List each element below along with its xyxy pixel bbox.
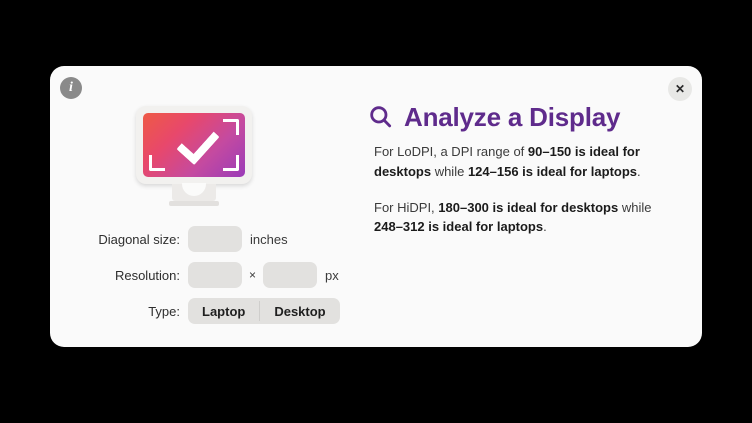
type-row: Type: Laptop Desktop xyxy=(50,298,350,324)
screen-background: i ✕ Diagonal s xyxy=(0,0,752,423)
page-title: Analyze a Display xyxy=(404,104,620,130)
diagonal-size-input[interactable] xyxy=(188,226,242,252)
monitor-bezel xyxy=(136,106,252,184)
right-panel: Analyze a Display For LoDPI, a DPI range… xyxy=(368,104,688,253)
resolution-height-input[interactable] xyxy=(263,262,317,288)
analyze-display-dialog: i ✕ Diagonal s xyxy=(50,66,702,347)
diagonal-size-unit: inches xyxy=(250,232,288,247)
diagonal-size-row: Diagonal size: inches xyxy=(50,226,350,252)
monitor-screen xyxy=(143,113,245,177)
diagonal-size-label: Diagonal size: xyxy=(50,232,188,247)
resolution-separator: × xyxy=(249,268,256,282)
close-icon[interactable]: ✕ xyxy=(668,77,692,101)
display-form: Diagonal size: inches Resolution: × px T… xyxy=(50,226,350,334)
resolution-label: Resolution: xyxy=(50,268,188,283)
display-monitor-checkmark-icon xyxy=(136,106,252,206)
crop-bracket-bottom-right-icon xyxy=(223,155,239,171)
close-glyph: ✕ xyxy=(675,83,685,95)
magnifier-icon xyxy=(368,104,394,130)
type-option-laptop[interactable]: Laptop xyxy=(188,298,259,324)
crop-bracket-bottom-left-icon xyxy=(149,155,165,171)
title-row: Analyze a Display xyxy=(368,104,688,130)
crop-bracket-top-right-icon xyxy=(223,119,239,135)
monitor-neck xyxy=(172,184,216,201)
lodpi-description: For LoDPI, a DPI range of 90–150 is idea… xyxy=(374,142,682,182)
type-option-desktop[interactable]: Desktop xyxy=(260,298,339,324)
hidpi-description: For HiDPI, 180–300 is ideal for desktops… xyxy=(374,198,682,238)
checkmark-icon xyxy=(176,121,219,165)
resolution-unit: px xyxy=(325,268,339,283)
monitor-base xyxy=(169,201,219,206)
resolution-width-input[interactable] xyxy=(188,262,242,288)
type-label: Type: xyxy=(50,304,188,319)
type-toggle-group: Laptop Desktop xyxy=(188,298,340,324)
left-panel: Diagonal size: inches Resolution: × px T… xyxy=(50,66,360,347)
resolution-row: Resolution: × px xyxy=(50,262,350,288)
